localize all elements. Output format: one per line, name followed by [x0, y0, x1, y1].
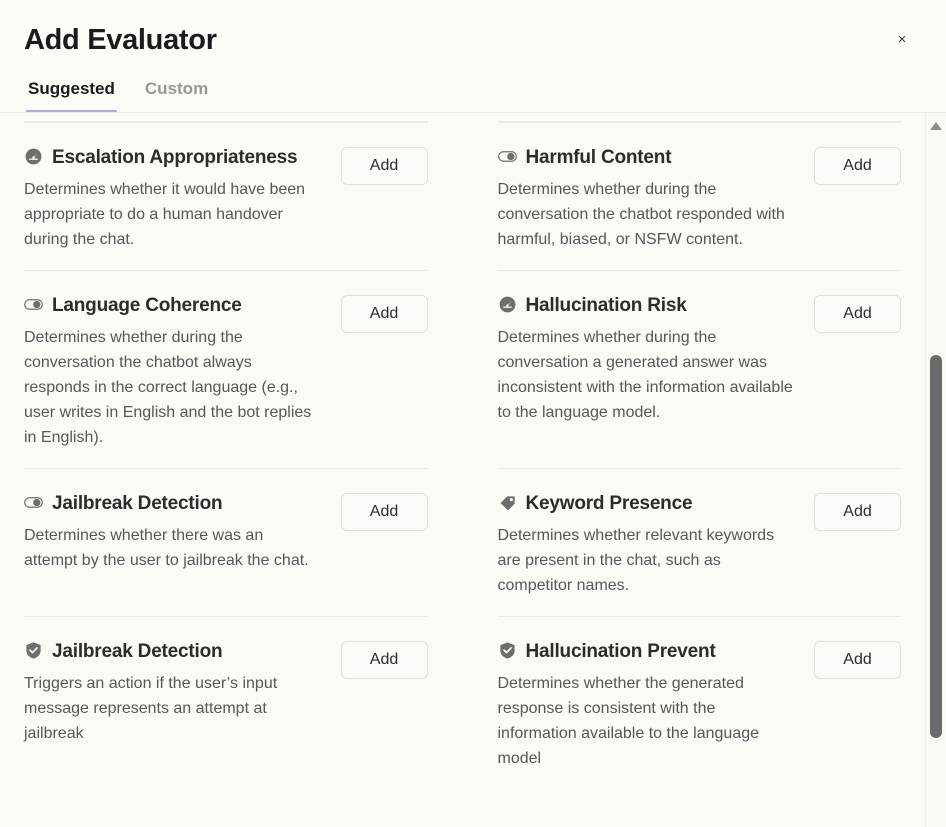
evaluator-card-content: Jailbreak DetectionTriggers an action if…	[24, 634, 341, 746]
gauge-icon	[24, 147, 43, 166]
page-title: Add Evaluator	[24, 22, 922, 58]
add-evaluator-button[interactable]: Add	[341, 641, 428, 679]
add-evaluator-button[interactable]: Add	[814, 641, 901, 679]
add-evaluator-button[interactable]: Add	[814, 295, 901, 333]
shield-check-icon	[24, 641, 43, 660]
evaluator-title: Hallucination Risk	[526, 295, 687, 316]
evaluator-row-partial	[498, 113, 902, 122]
add-evaluator-button[interactable]: Add	[814, 493, 901, 531]
evaluator-card-body: Language CoherenceDetermines whether dur…	[24, 288, 428, 450]
evaluator-card-content: Escalation AppropriatenessDetermines whe…	[24, 140, 341, 252]
evaluator-card-content: Language CoherenceDetermines whether dur…	[24, 288, 341, 450]
evaluator-title: Jailbreak Detection	[52, 493, 222, 514]
evaluator-title: Jailbreak Detection	[52, 641, 222, 662]
evaluator-grid: Escalation AppropriatenessDetermines whe…	[0, 113, 925, 789]
evaluator-title: Hallucination Prevent	[526, 641, 716, 662]
evaluator-card-content: Jailbreak DetectionDetermines whether th…	[24, 486, 341, 573]
add-evaluator-modal: Add Evaluator × Suggested Custom Escalat…	[0, 0, 946, 827]
evaluator-card: Jailbreak DetectionDetermines whether th…	[24, 468, 428, 616]
evaluator-title: Language Coherence	[52, 295, 242, 316]
toggle-icon	[24, 295, 43, 314]
evaluator-headline: Hallucination Risk	[498, 288, 801, 324]
evaluator-card-body: Keyword PresenceDetermines whether relev…	[498, 486, 902, 598]
evaluator-headline: Language Coherence	[24, 288, 327, 324]
tag-icon	[498, 493, 517, 512]
scroll-up-arrow-icon[interactable]	[930, 122, 942, 130]
evaluator-description: Determines whether relevant keywords are…	[498, 523, 798, 598]
add-evaluator-button[interactable]: Add	[341, 147, 428, 185]
evaluator-card-content: Hallucination PreventDetermines whether …	[498, 634, 815, 771]
evaluator-card-content: Keyword PresenceDetermines whether relev…	[498, 486, 815, 598]
vertical-scrollbar[interactable]	[925, 113, 946, 827]
evaluator-headline: Harmful Content	[498, 140, 801, 176]
evaluator-card: Jailbreak DetectionTriggers an action if…	[24, 616, 428, 789]
add-evaluator-button[interactable]: Add	[341, 295, 428, 333]
evaluator-headline: Jailbreak Detection	[24, 486, 327, 522]
evaluator-title: Keyword Presence	[526, 493, 693, 514]
evaluator-description: Determines whether during the conversati…	[498, 177, 798, 252]
evaluator-card-body: Jailbreak DetectionDetermines whether th…	[24, 486, 428, 573]
gauge-icon	[498, 295, 517, 314]
toggle-icon	[24, 493, 43, 512]
evaluator-description: Determines whether it would have been ap…	[24, 177, 316, 252]
add-evaluator-button[interactable]: Add	[814, 147, 901, 185]
evaluator-description: Determines whether during the conversati…	[498, 325, 798, 425]
evaluator-card-body: Hallucination RiskDetermines whether dur…	[498, 288, 902, 425]
close-icon[interactable]: ×	[891, 28, 913, 50]
evaluator-list-scroll-area: Escalation AppropriatenessDetermines whe…	[0, 112, 946, 827]
evaluator-title: Escalation Appropriateness	[52, 147, 297, 168]
evaluator-card-body: Escalation AppropriatenessDetermines whe…	[24, 140, 428, 252]
evaluator-card: Hallucination PreventDetermines whether …	[498, 616, 902, 789]
evaluator-card-body: Harmful ContentDetermines whether during…	[498, 140, 902, 252]
evaluator-headline: Escalation Appropriateness	[24, 140, 327, 176]
modal-header: Add Evaluator × Suggested Custom	[0, 0, 946, 112]
scroll-thumb[interactable]	[930, 355, 942, 738]
evaluator-headline: Hallucination Prevent	[498, 634, 801, 670]
evaluator-description: Determines whether the generated respons…	[498, 671, 798, 771]
evaluator-card: Hallucination RiskDetermines whether dur…	[498, 270, 902, 468]
tab-custom[interactable]: Custom	[143, 78, 210, 112]
evaluator-card: Harmful ContentDetermines whether during…	[498, 122, 902, 270]
evaluator-card-content: Harmful ContentDetermines whether during…	[498, 140, 815, 252]
evaluator-card: Escalation AppropriatenessDetermines whe…	[24, 122, 428, 270]
toggle-icon	[498, 147, 517, 166]
evaluator-card-body: Hallucination PreventDetermines whether …	[498, 634, 902, 771]
tab-bar: Suggested Custom	[24, 74, 922, 112]
tab-suggested[interactable]: Suggested	[26, 78, 117, 112]
evaluator-title: Harmful Content	[526, 147, 672, 168]
evaluator-description: Triggers an action if the user’s input m…	[24, 671, 316, 746]
add-evaluator-button[interactable]: Add	[341, 493, 428, 531]
evaluator-headline: Jailbreak Detection	[24, 634, 327, 670]
evaluator-headline: Keyword Presence	[498, 486, 801, 522]
evaluator-description: Determines whether during the conversati…	[24, 325, 316, 450]
shield-check-icon	[498, 641, 517, 660]
evaluator-description: Determines whether there was an attempt …	[24, 523, 316, 573]
evaluator-card: Language CoherenceDetermines whether dur…	[24, 270, 428, 468]
evaluator-row-partial	[24, 113, 428, 122]
evaluator-card-content: Hallucination RiskDetermines whether dur…	[498, 288, 815, 425]
evaluator-card: Keyword PresenceDetermines whether relev…	[498, 468, 902, 616]
evaluator-card-body: Jailbreak DetectionTriggers an action if…	[24, 634, 428, 746]
